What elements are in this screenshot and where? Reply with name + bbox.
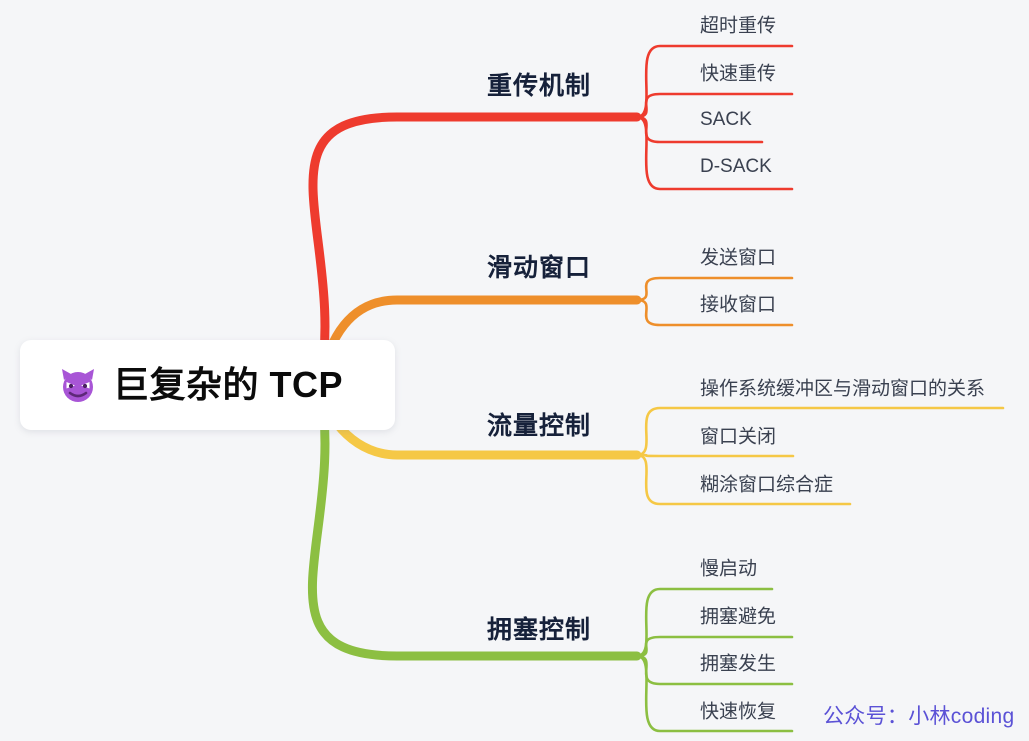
leaf-label-retransmission-2[interactable]: SACK xyxy=(700,109,752,131)
leaf-label-congestion_control-1[interactable]: 拥塞避免 xyxy=(700,602,776,629)
leaf-label-retransmission-3[interactable]: D-SACK xyxy=(700,156,772,178)
root-node[interactable]: 巨复杂的 TCP xyxy=(20,340,395,430)
branch-label-congestion_control[interactable]: 拥塞控制 xyxy=(487,610,591,646)
leaf-label-flow_control-1[interactable]: 窗口关闭 xyxy=(700,422,776,449)
leaf-label-sliding_window-1[interactable]: 接收窗口 xyxy=(700,290,776,317)
leaf-label-flow_control-2[interactable]: 糊涂窗口综合症 xyxy=(700,470,833,497)
leaf-label-sliding_window-0[interactable]: 发送窗口 xyxy=(700,243,776,270)
root-title: 巨复杂的 TCP xyxy=(113,367,343,403)
leaf-connector-flow_control-0 xyxy=(637,408,1003,455)
branch-label-sliding_window[interactable]: 滑动窗口 xyxy=(487,248,591,284)
smiling-face-with-horns-icon xyxy=(58,365,98,405)
branch-label-flow_control[interactable]: 流量控制 xyxy=(487,406,591,442)
leaf-label-retransmission-1[interactable]: 快速重传 xyxy=(700,59,776,86)
leaf-label-congestion_control-2[interactable]: 拥塞发生 xyxy=(700,649,776,676)
leaf-label-retransmission-0[interactable]: 超时重传 xyxy=(700,11,776,38)
branch-label-retransmission[interactable]: 重传机制 xyxy=(487,66,591,102)
mindmap-canvas: 巨复杂的 TCP 重传机制超时重传快速重传SACKD-SACK滑动窗口发送窗口接… xyxy=(0,0,1029,741)
leaf-label-congestion_control-0[interactable]: 慢启动 xyxy=(700,554,757,581)
leaf-label-congestion_control-3[interactable]: 快速恢复 xyxy=(700,697,776,724)
watermark: 公众号：小林coding xyxy=(823,700,1014,730)
leaf-connector-flow_control-1 xyxy=(637,455,793,456)
leaf-label-flow_control-0[interactable]: 操作系统缓冲区与滑动窗口的关系 xyxy=(700,374,985,401)
